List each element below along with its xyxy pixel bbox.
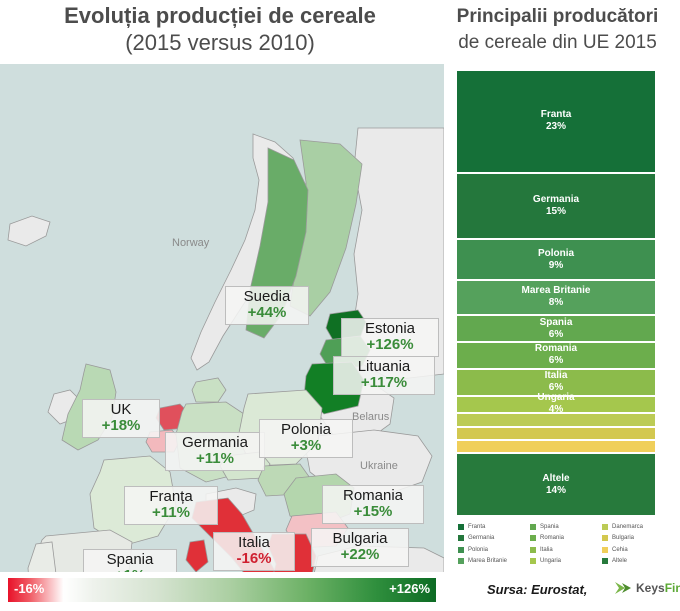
callout-value: +11% [132, 505, 210, 521]
legend-label: Germania [468, 534, 494, 542]
left-panel-title: Evoluția producției de cereale (2015 ver… [0, 2, 440, 56]
keysfin-logo[interactable]: KeysFin [614, 581, 680, 595]
bar-segment-label: Altele [542, 473, 569, 485]
map-callout-romania[interactable]: Romania+15% [322, 485, 424, 524]
legend-label: Altele [612, 557, 627, 565]
legend-swatch-icon [530, 535, 536, 541]
callout-country-name: Spania [91, 552, 169, 568]
map-callout-suedia[interactable]: Suedia+44% [225, 286, 309, 325]
legend-column-1: SpaniaRomaniaItaliaUngaria [530, 521, 602, 567]
legend-swatch-icon [530, 547, 536, 553]
scale-min-label: -16% [14, 581, 44, 596]
callout-country-name: Lituania [341, 359, 427, 375]
legend-swatch-icon [458, 547, 464, 553]
callout-value: +22% [319, 547, 401, 563]
bar-segment-spania[interactable]: Spania6% [456, 315, 656, 342]
callout-country-name: Estonia [349, 321, 431, 337]
logo-text: KeysFin [636, 581, 680, 595]
legend-item-germania[interactable]: Germania [458, 533, 530, 545]
map-callout-polonia[interactable]: Polonia+3% [259, 419, 353, 458]
legend-label: Danemarca [612, 523, 643, 531]
logo-fin: Fin [665, 581, 680, 595]
geo-label-norway: Norway [172, 237, 210, 249]
legend-swatch-icon [602, 558, 608, 564]
callout-value: +3% [267, 438, 345, 454]
callout-value: +44% [233, 305, 301, 321]
legend-item-mareabritanie[interactable]: Marea Britanie [458, 556, 530, 568]
legend-column-0: FrantaGermaniaPoloniaMarea Britanie [458, 521, 530, 567]
bar-segment-value: 9% [549, 260, 563, 272]
bar-segment-label: Marea Britanie [522, 285, 591, 297]
legend-item-spania[interactable]: Spania [530, 521, 602, 533]
map-callout-uk[interactable]: UK+18% [82, 399, 160, 438]
callout-value: +18% [90, 418, 152, 434]
bar-segment-polonia[interactable]: Polonia9% [456, 239, 656, 279]
bar-segment-label: Germania [533, 194, 579, 206]
legend-swatch-icon [458, 535, 464, 541]
legend-label: Bulgaria [612, 534, 634, 542]
callout-value: -16% [221, 551, 287, 567]
legend-column-2: DanemarcaBulgariaCehiaAltele [602, 521, 674, 567]
map-callout-spania[interactable]: Spania+1% [83, 549, 177, 572]
legend-item-bulgaria[interactable]: Bulgaria [602, 533, 674, 545]
callout-value: +1% [91, 568, 169, 572]
bar-segment-germania[interactable]: Germania15% [456, 173, 656, 240]
callout-value: +11% [173, 451, 257, 467]
legend-item-franta[interactable]: Franta [458, 521, 530, 533]
legend-label: Italia [540, 546, 553, 554]
bar-segment-mareabritanie[interactable]: Marea Britanie8% [456, 280, 656, 316]
legend-swatch-icon [458, 524, 464, 530]
legend-item-romania[interactable]: Romania [530, 533, 602, 545]
producers-stacked-bar-chart[interactable]: Franta23%Germania15%Polonia9%Marea Brita… [456, 70, 656, 516]
callout-value: +117% [341, 375, 427, 391]
bar-segment-cehia[interactable] [456, 440, 656, 453]
legend-label: Romania [540, 534, 564, 542]
callout-country-name: Franța [132, 489, 210, 505]
legend-item-danemarca[interactable]: Danemarca [602, 521, 674, 533]
legend-swatch-icon [530, 524, 536, 530]
map-callout-germania[interactable]: Germania+11% [165, 432, 265, 471]
map-callout-lituania[interactable]: Lituania+117% [333, 356, 435, 395]
legend-label: Franta [468, 523, 485, 531]
map-callout-bulgaria[interactable]: Bulgaria+22% [311, 528, 409, 567]
bar-segment-altele[interactable]: Altele14% [456, 453, 656, 515]
left-title-main: Evoluția producției de cereale [0, 2, 440, 29]
callout-value: +15% [330, 504, 416, 520]
europe-choropleth-map[interactable]: .land{stroke:#9a9a9a;stroke-width:0.8;} … [0, 64, 444, 572]
panel-divider [444, 64, 445, 572]
infographic-root: Evoluția producției de cereale (2015 ver… [0, 0, 680, 611]
bar-segment-value: 23% [546, 121, 566, 133]
legend-swatch-icon [602, 535, 608, 541]
legend-label: Cehia [612, 546, 628, 554]
map-callout-italia[interactable]: Italia-16% [213, 532, 295, 571]
chevron-right-icon [614, 581, 634, 595]
right-title-main: Principalii producători [435, 4, 680, 30]
legend-swatch-icon [602, 547, 608, 553]
legend-swatch-icon [602, 524, 608, 530]
callout-country-name: Suedia [233, 289, 301, 305]
callout-country-name: Germania [173, 435, 257, 451]
right-panel-title: Principalii producători de cereale din U… [435, 4, 680, 56]
callout-value: +126% [349, 337, 431, 353]
bar-segment-label: Polonia [538, 248, 574, 260]
chart-legend: FrantaGermaniaPoloniaMarea BritanieSpani… [458, 521, 674, 567]
bar-segment-value: 6% [549, 329, 563, 341]
bar-segment-label: Ungaria [537, 392, 574, 404]
callout-country-name: Polonia [267, 422, 345, 438]
geo-label-belarus: Belarus [352, 411, 390, 423]
legend-item-polonia[interactable]: Polonia [458, 544, 530, 556]
bar-segment-label: Spania [540, 317, 573, 329]
right-title-sub: de cereale din UE 2015 [435, 30, 680, 56]
color-scale-legend: -16% +126% [8, 578, 436, 602]
map-callout-estonia[interactable]: Estonia+126% [341, 318, 439, 357]
legend-swatch-icon [530, 558, 536, 564]
bar-segment-bulgaria[interactable] [456, 427, 656, 440]
legend-item-cehia[interactable]: Cehia [602, 544, 674, 556]
legend-label: Spania [540, 523, 559, 531]
bar-segment-label: Romania [535, 343, 577, 355]
bar-segment-romania[interactable]: Romania6% [456, 342, 656, 369]
scale-max-label: +126% [389, 581, 430, 596]
bar-segment-value: 14% [546, 485, 566, 497]
source-note: Sursa: Eurostat, [487, 582, 587, 597]
legend-item-altele[interactable]: Altele [602, 556, 674, 568]
bar-segment-value: 15% [546, 206, 566, 218]
legend-item-italia[interactable]: Italia [530, 544, 602, 556]
bar-segment-danemarca[interactable] [456, 413, 656, 426]
legend-item-ungaria[interactable]: Ungaria [530, 556, 602, 568]
bar-segment-franta[interactable]: Franta23% [456, 70, 656, 173]
legend-swatch-icon [458, 558, 464, 564]
callout-country-name: Bulgaria [319, 531, 401, 547]
left-title-sub: (2015 versus 2010) [0, 29, 440, 56]
callout-country-name: Romania [330, 488, 416, 504]
bar-segment-label: Italia [545, 370, 568, 382]
bar-segment-value: 6% [549, 355, 563, 367]
legend-label: Marea Britanie [468, 557, 507, 565]
map-callout-frana[interactable]: Franța+11% [124, 486, 218, 525]
legend-label: Polonia [468, 546, 488, 554]
bar-segment-ungaria[interactable]: Ungaria4% [456, 396, 656, 414]
legend-label: Ungaria [540, 557, 561, 565]
geo-label-ukraine: Ukraine [360, 460, 398, 472]
bar-segment-label: Franta [541, 109, 572, 121]
logo-keys: Keys [636, 581, 665, 595]
bar-segment-value: 8% [549, 297, 563, 309]
callout-country-name: Italia [221, 535, 287, 551]
callout-country-name: UK [90, 402, 152, 418]
